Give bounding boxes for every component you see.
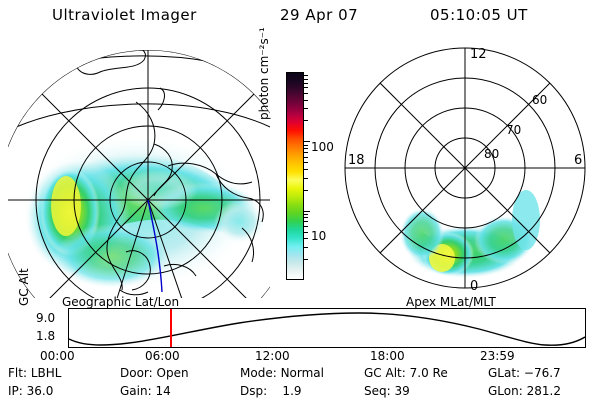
time-label-0000: 00:00 xyxy=(40,350,75,362)
status-field-mode: Mode: Normal xyxy=(240,366,364,380)
colorbar-ticks xyxy=(304,72,310,280)
geographic-map-panel xyxy=(8,40,270,298)
status-label: IP: xyxy=(8,384,23,398)
status-value: Open xyxy=(157,366,189,380)
status-value: 36.0 xyxy=(27,384,54,398)
time-label-2359: 23:59 xyxy=(480,350,515,362)
status-value: 39 xyxy=(395,384,410,398)
observation-date: 29 Apr 07 xyxy=(280,8,358,23)
status-field-flt: Flt: LBHL xyxy=(8,366,120,380)
colorbar xyxy=(286,72,304,280)
lat-ring-label-80: 80 xyxy=(484,147,499,161)
colorbar-ramp xyxy=(286,72,304,280)
time-label-1200: 12:00 xyxy=(255,350,290,362)
status-field-glon: GLon: 281.2 xyxy=(488,384,600,398)
current-time-marker xyxy=(170,309,172,347)
status-value: 7.0 Re xyxy=(410,366,448,380)
status-value: LBHL xyxy=(31,366,62,380)
status-field-glat: GLat: −76.7 xyxy=(488,366,600,380)
status-value: 14 xyxy=(155,384,170,398)
time-label-0600: 06:00 xyxy=(145,350,180,362)
colorbar-axis-title: photon cm⁻²s⁻¹ xyxy=(258,27,270,120)
aurora-emission-right xyxy=(400,190,540,278)
orbit-y-label-min: 1.8 xyxy=(36,330,55,342)
lat-ring-label-70: 70 xyxy=(506,123,521,137)
time-label-1800: 18:00 xyxy=(370,350,405,362)
status-field-gcalt: GC Alt: 7.0 Re xyxy=(364,366,488,380)
orbit-altitude-plot xyxy=(68,308,586,348)
observation-time: 05:10:05 UT xyxy=(430,8,528,23)
status-panel: Flt: LBHL Door: Open Mode: Normal GC Alt… xyxy=(8,366,600,398)
uvi-summary-plot: Ultraviolet Imager 29 Apr 07 05:10:05 UT xyxy=(0,0,600,400)
mlt-label-18: 18 xyxy=(348,153,365,168)
orbit-y-axis-title: GC Alt xyxy=(18,268,30,306)
lat-ring-label-60: 60 xyxy=(532,93,547,107)
mlt-dial-panel: 12 18 6 0 60 70 80 xyxy=(336,40,594,298)
status-label: GLat: xyxy=(488,366,520,380)
status-value: −76.7 xyxy=(524,366,561,380)
status-label: GC Alt: xyxy=(364,366,406,380)
status-field-ip: IP: 36.0 xyxy=(8,384,120,398)
status-label: Seq: xyxy=(364,384,391,398)
status-label: Dsp: xyxy=(240,384,267,398)
status-value: 281.2 xyxy=(527,384,561,398)
status-label: Flt: xyxy=(8,366,27,380)
status-label: Gain: xyxy=(120,384,152,398)
colorbar-label-10: 10 xyxy=(311,230,326,242)
status-row: Flt: LBHL Door: Open Mode: Normal GC Alt… xyxy=(8,366,600,380)
status-value: Normal xyxy=(281,366,324,380)
page-title: Ultraviolet Imager xyxy=(52,8,197,23)
status-field-dsp: Dsp: 1.9 xyxy=(240,384,364,398)
mlt-label-12: 12 xyxy=(470,47,487,62)
orbit-y-label-max: 9.0 xyxy=(36,312,55,324)
status-row: IP: 36.0 Gain: 14 Dsp: 1.9 Seq: 39 GLon:… xyxy=(8,384,600,398)
orbit-altitude-curve xyxy=(69,313,585,345)
status-field-door: Door: Open xyxy=(120,366,240,380)
status-field-seq: Seq: 39 xyxy=(364,384,488,398)
colorbar-label-100: 100 xyxy=(311,141,334,153)
mlt-label-6: 6 xyxy=(574,153,582,168)
right-panel-caption: Apex MLat/MLT xyxy=(406,296,496,308)
status-field-gain: Gain: 14 xyxy=(120,384,240,398)
left-panel-caption: Geographic Lat/Lon xyxy=(62,296,179,308)
mlt-grid xyxy=(345,48,585,288)
status-label: Mode: xyxy=(240,366,277,380)
mlt-label-0: 0 xyxy=(470,279,478,294)
aurora-emission-left xyxy=(18,134,266,290)
status-value: 1.9 xyxy=(271,384,302,398)
status-label: Door: xyxy=(120,366,153,380)
status-label: GLon: xyxy=(488,384,523,398)
